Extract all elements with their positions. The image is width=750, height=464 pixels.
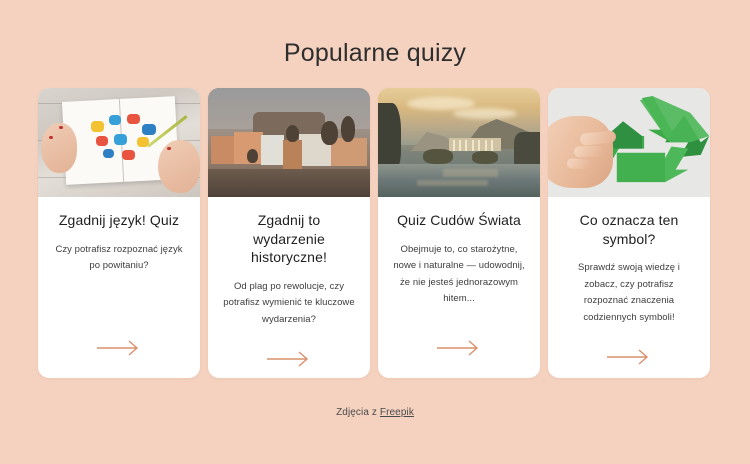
card-image (38, 88, 200, 197)
card-title: Zgadnij język! Quiz (52, 211, 186, 230)
card-description: Obejmuje to, co starożytne, nowe i natur… (392, 242, 526, 309)
quiz-card[interactable]: Co oznacza ten symbol? Sprawdź swoją wie… (548, 88, 710, 378)
card-body: Co oznacza ten symbol? Sprawdź swoją wie… (548, 197, 710, 378)
footer-credit: Zdjęcia z Freepik (0, 407, 750, 418)
quiz-card[interactable]: Zgadnij język! Quiz Czy potrafisz rozpoz… (38, 88, 200, 378)
notebook-illustration (38, 88, 200, 197)
freepik-link[interactable]: Freepik (380, 407, 414, 418)
card-image (548, 88, 710, 197)
card-description: Sprawdź swoją wiedzę i zobacz, czy potra… (562, 260, 696, 327)
quiz-cards-row: Zgadnij język! Quiz Czy potrafisz rozpoz… (38, 88, 710, 378)
card-title: Co oznacza ten symbol? (562, 211, 696, 248)
arrow-right-icon[interactable] (222, 329, 356, 378)
quiz-card[interactable]: Quiz Cudów Świata Obejmuje to, co staroż… (378, 88, 540, 378)
card-body: Zgadnij język! Quiz Czy potrafisz rozpoz… (38, 197, 200, 378)
card-body: Quiz Cudów Świata Obejmuje to, co staroż… (378, 197, 540, 378)
roman-ruins-illustration (208, 88, 370, 197)
card-image (208, 88, 370, 197)
card-title: Zgadnij to wydarzenie historyczne! (222, 211, 356, 267)
card-image (378, 88, 540, 197)
card-description: Czy potrafisz rozpoznać język po powitan… (52, 242, 186, 275)
arrow-right-icon[interactable] (52, 318, 186, 378)
greek-temple-illustration (378, 88, 540, 197)
page-root: Popularne quizy (0, 0, 750, 464)
page-title: Popularne quizy (0, 0, 750, 66)
footer-prefix: Zdjęcia z (336, 407, 380, 418)
card-description: Od plag po rewolucje, czy potrafisz wymi… (222, 279, 356, 329)
arrow-right-icon[interactable] (392, 318, 526, 378)
quiz-card[interactable]: Zgadnij to wydarzenie historyczne! Od pl… (208, 88, 370, 378)
arrow-right-icon[interactable] (562, 327, 696, 378)
recycling-symbol-illustration (548, 88, 710, 197)
card-body: Zgadnij to wydarzenie historyczne! Od pl… (208, 197, 370, 378)
card-title: Quiz Cudów Świata (392, 211, 526, 230)
